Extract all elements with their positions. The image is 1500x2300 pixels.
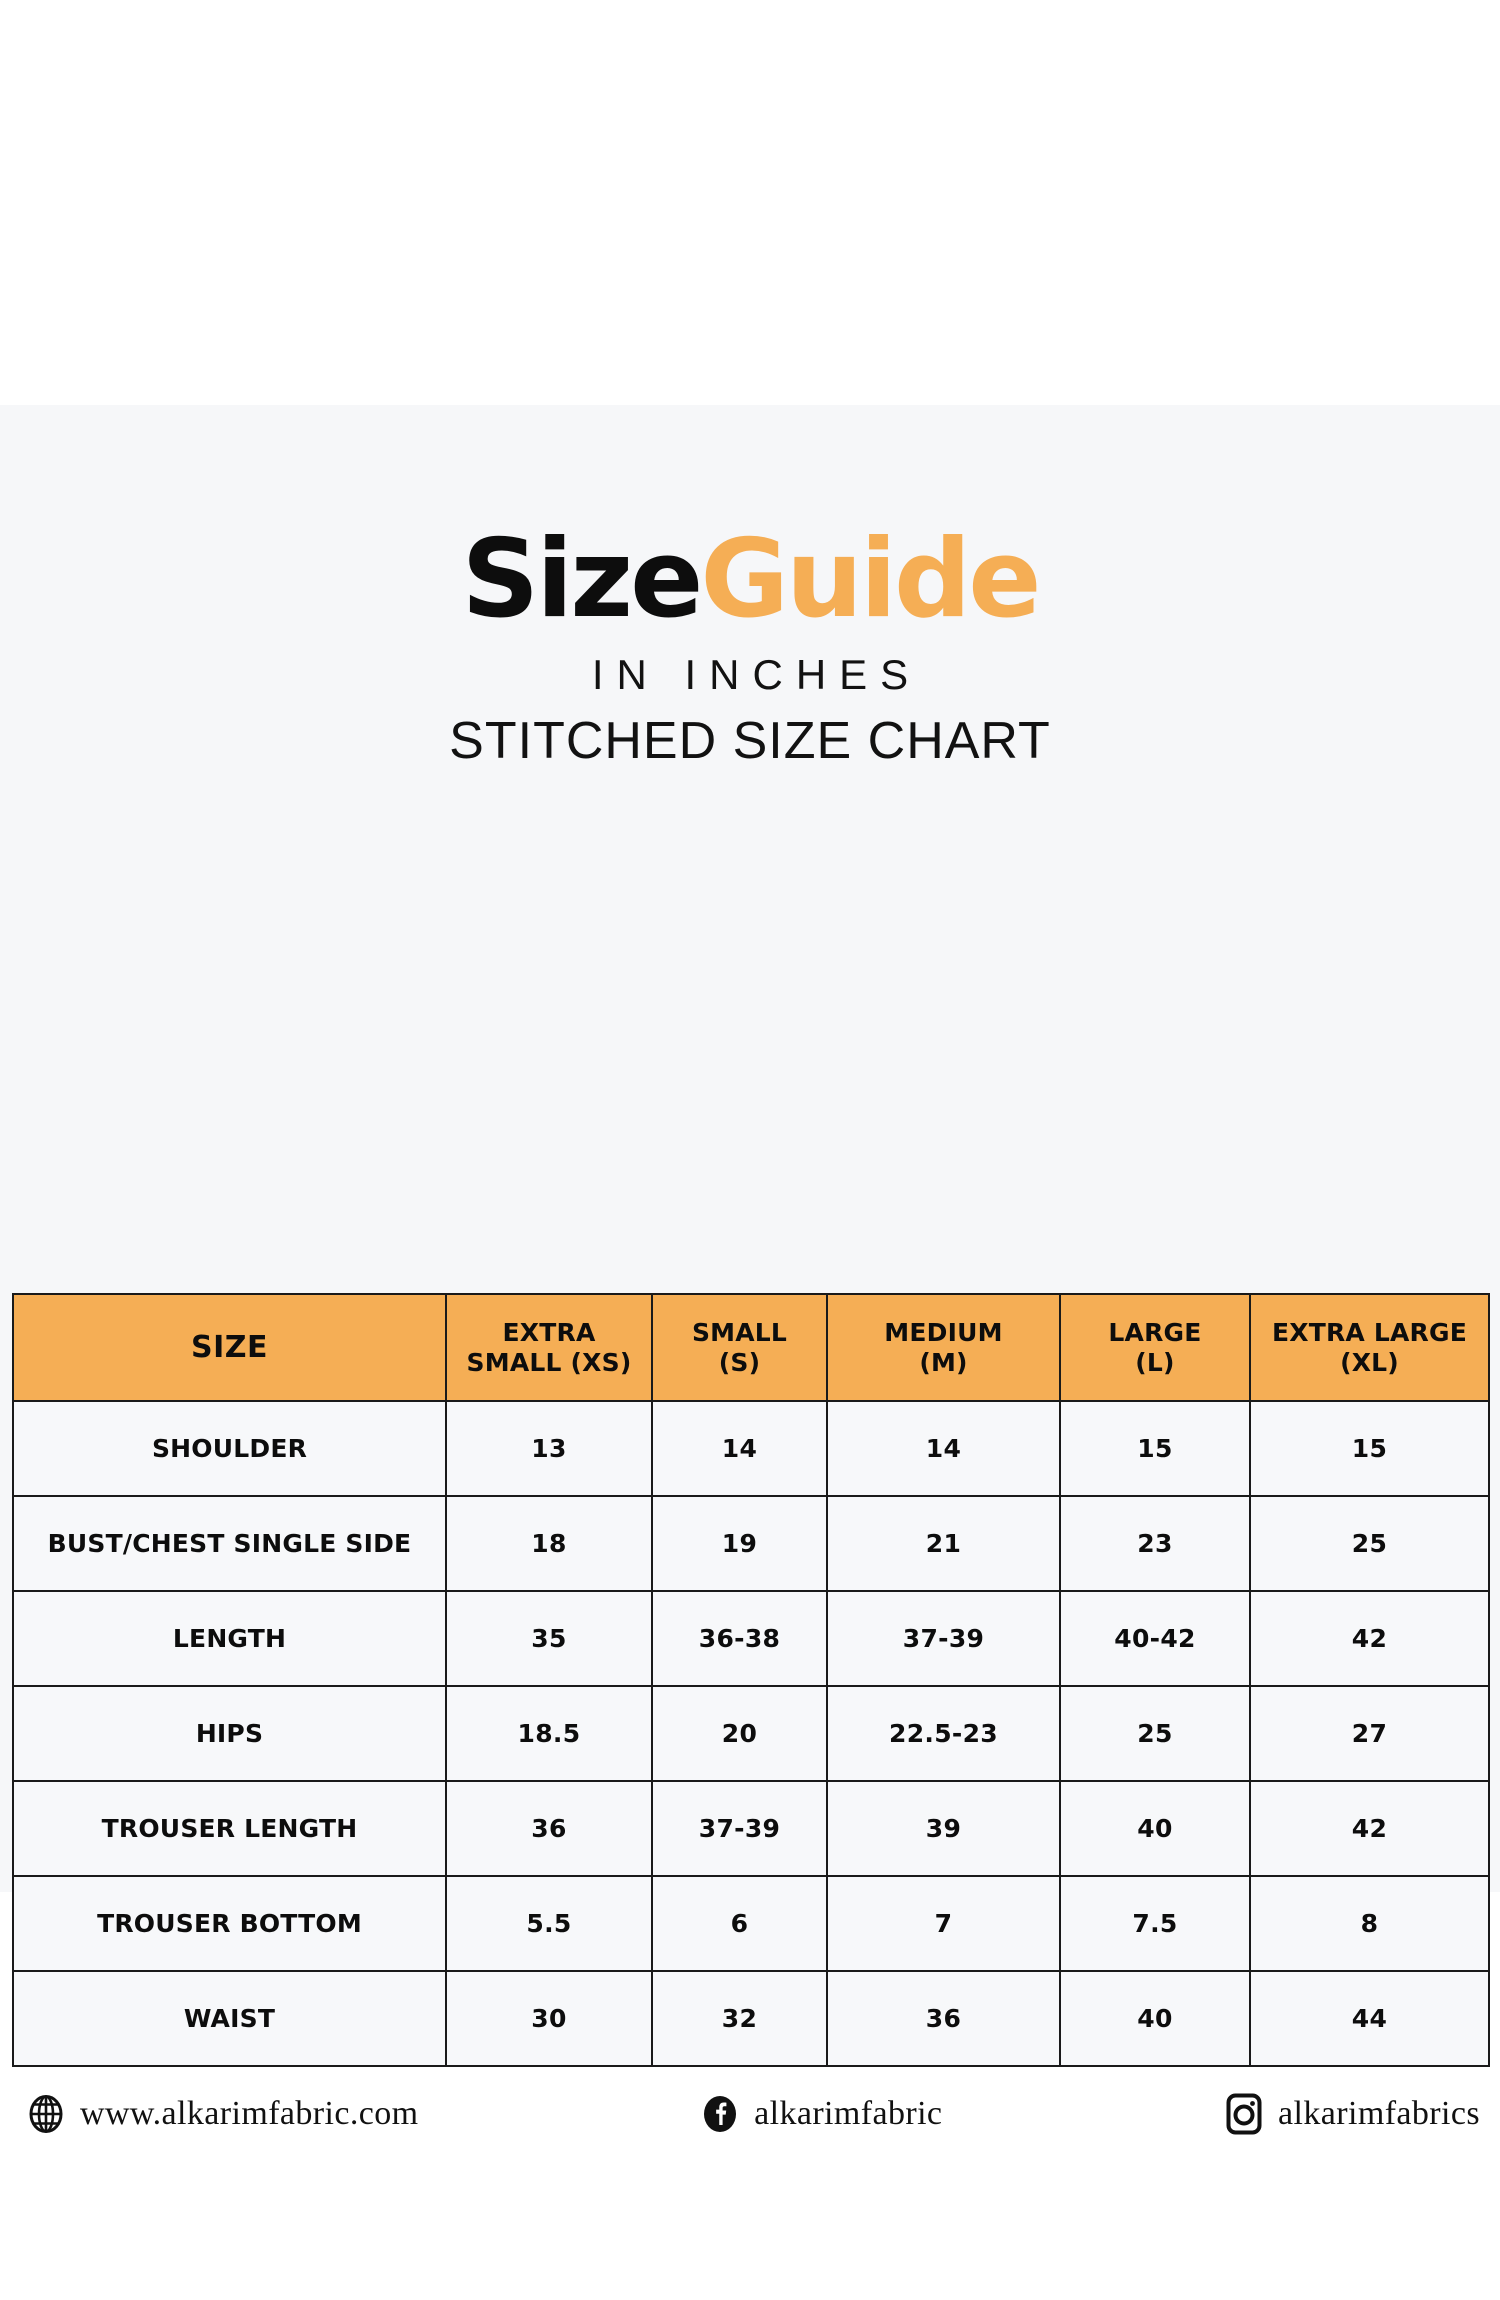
table-header: SIZE EXTRA SMALL (XS) SMALL (S) MEDIUM [13,1294,1489,1401]
cell-trouser-bottom-xl: 8 [1250,1876,1489,1971]
column-header-m-line1: MEDIUM [884,1318,1002,1347]
content-panel: SizeGuide IN INCHES STITCHED SIZE CHART … [0,405,1500,1892]
subtitle-units: IN INCHES [0,651,1500,699]
cell-bust-l: 23 [1060,1496,1250,1591]
cell-hips-s: 20 [652,1686,827,1781]
cell-waist-m: 36 [827,1971,1060,2066]
footer-instagram[interactable]: alkarimfabrics [1224,2093,1480,2135]
cell-waist-s: 32 [652,1971,827,2066]
table-body: SHOULDER 13 14 14 15 15 BUST/CHEST SINGL… [13,1401,1489,2066]
size-chart-table: SIZE EXTRA SMALL (XS) SMALL (S) MEDIUM [12,1293,1490,2067]
cell-trouser-length-xl: 42 [1250,1781,1489,1876]
globe-icon [26,2094,66,2134]
column-header-l-line1: LARGE [1108,1318,1201,1347]
row-label-bust-chest: BUST/CHEST SINGLE SIDE [13,1496,446,1591]
cell-trouser-length-s: 37-39 [652,1781,827,1876]
cell-length-l: 40-42 [1060,1591,1250,1686]
footer-facebook-label: alkarimfabric [754,2095,942,2133]
cell-length-s: 36-38 [652,1591,827,1686]
size-chart-table-wrapper: SIZE EXTRA SMALL (XS) SMALL (S) MEDIUM [12,1293,1488,2067]
column-header-m-line2: (M) [919,1348,967,1377]
page-title-accent: Guide [700,517,1038,642]
column-header-xl: EXTRA LARGE (XL) [1250,1294,1489,1401]
column-header-s-line1: SMALL [692,1318,787,1347]
row-label-shoulder: SHOULDER [13,1401,446,1496]
column-header-xs-line2: SMALL (XS) [467,1348,632,1377]
cell-hips-xl: 27 [1250,1686,1489,1781]
cell-bust-xs: 18 [446,1496,652,1591]
column-header-xl-line1: EXTRA LARGE [1272,1318,1467,1347]
cell-waist-l: 40 [1060,1971,1250,2066]
cell-length-xl: 42 [1250,1591,1489,1686]
cell-trouser-length-xs: 36 [446,1781,652,1876]
cell-trouser-bottom-xs: 5.5 [446,1876,652,1971]
cell-waist-xl: 44 [1250,1971,1489,2066]
cell-bust-xl: 25 [1250,1496,1489,1591]
cell-bust-m: 21 [827,1496,1060,1591]
row-label-hips: HIPS [13,1686,446,1781]
cell-trouser-length-m: 39 [827,1781,1060,1876]
cell-shoulder-xl: 15 [1250,1401,1489,1496]
table-row: LENGTH 35 36-38 37-39 40-42 42 [13,1591,1489,1686]
cell-bust-s: 19 [652,1496,827,1591]
cell-waist-xs: 30 [446,1971,652,2066]
facebook-icon [700,2094,740,2134]
table-row: WAIST 30 32 36 40 44 [13,1971,1489,2066]
column-header-s-line2: (S) [719,1348,760,1377]
footer: www.alkarimfabric.com alkarimfabric [12,2093,1488,2135]
cell-shoulder-xs: 13 [446,1401,652,1496]
size-guide-canvas: SizeGuide IN INCHES STITCHED SIZE CHART … [0,0,1500,2300]
column-header-m: MEDIUM (M) [827,1294,1060,1401]
cell-trouser-bottom-l: 7.5 [1060,1876,1250,1971]
table-row: SHOULDER 13 14 14 15 15 [13,1401,1489,1496]
column-header-l-line2: (L) [1135,1348,1174,1377]
column-header-s: SMALL (S) [652,1294,827,1401]
row-label-waist: WAIST [13,1971,446,2066]
subtitle-chart: STITCHED SIZE CHART [0,711,1500,771]
footer-website[interactable]: www.alkarimfabric.com [26,2094,419,2134]
table-header-row: SIZE EXTRA SMALL (XS) SMALL (S) MEDIUM [13,1294,1489,1401]
page-title-primary: Size [461,517,700,642]
column-header-size-label: SIZE [191,1330,268,1365]
cell-trouser-length-l: 40 [1060,1781,1250,1876]
column-header-xs-line1: EXTRA [502,1318,595,1347]
cell-length-m: 37-39 [827,1591,1060,1686]
footer-instagram-label: alkarimfabrics [1278,2095,1480,2133]
table-row: TROUSER LENGTH 36 37-39 39 40 42 [13,1781,1489,1876]
column-header-size: SIZE [13,1294,446,1401]
cell-hips-m: 22.5-23 [827,1686,1060,1781]
row-label-trouser-bottom: TROUSER BOTTOM [13,1876,446,1971]
cell-shoulder-m: 14 [827,1401,1060,1496]
cell-hips-xs: 18.5 [446,1686,652,1781]
cell-trouser-bottom-m: 7 [827,1876,1060,1971]
page-title: SizeGuide [0,525,1500,635]
footer-website-label: www.alkarimfabric.com [80,2095,419,2133]
row-label-trouser-length: TROUSER LENGTH [13,1781,446,1876]
column-header-xs: EXTRA SMALL (XS) [446,1294,652,1401]
table-row: HIPS 18.5 20 22.5-23 25 27 [13,1686,1489,1781]
row-label-length: LENGTH [13,1591,446,1686]
instagram-icon [1224,2093,1264,2135]
footer-facebook[interactable]: alkarimfabric [419,2094,1225,2134]
title-block: SizeGuide IN INCHES STITCHED SIZE CHART [0,525,1500,771]
cell-trouser-bottom-s: 6 [652,1876,827,1971]
cell-hips-l: 25 [1060,1686,1250,1781]
cell-shoulder-s: 14 [652,1401,827,1496]
table-row: BUST/CHEST SINGLE SIDE 18 19 21 23 25 [13,1496,1489,1591]
cell-shoulder-l: 15 [1060,1401,1250,1496]
column-header-l: LARGE (L) [1060,1294,1250,1401]
table-row: TROUSER BOTTOM 5.5 6 7 7.5 8 [13,1876,1489,1971]
cell-length-xs: 35 [446,1591,652,1686]
column-header-xl-line2: (XL) [1340,1348,1399,1377]
